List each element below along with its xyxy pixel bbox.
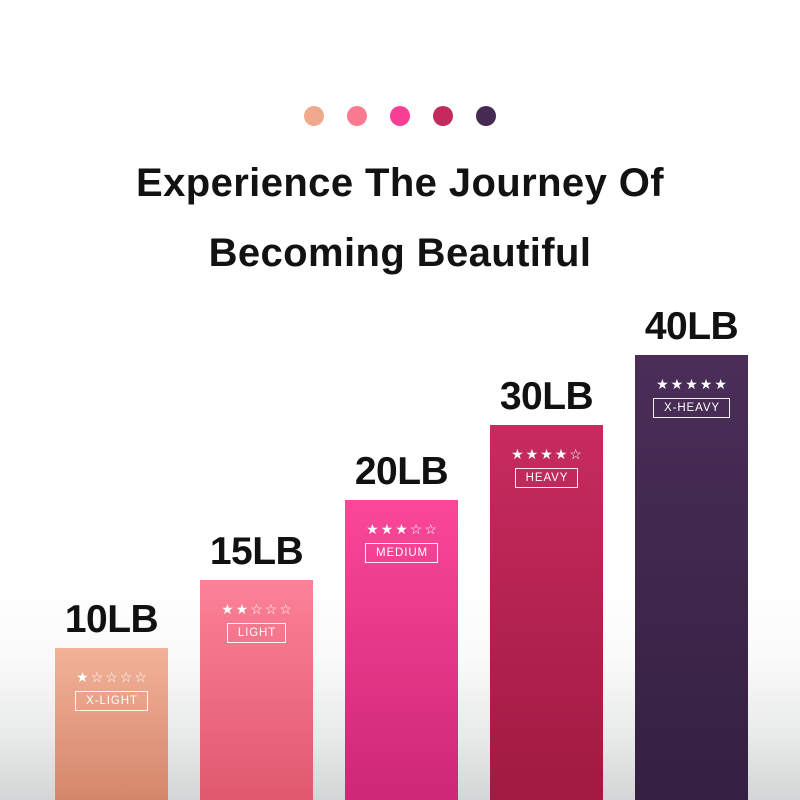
resistance-band-chart-poster: Experience The Journey Of Becoming Beaut…	[0, 0, 800, 800]
bar-badge: ★★★★☆HEAVY	[490, 447, 603, 488]
resistance-level-label: X-HEAVY	[653, 398, 730, 418]
star-filled-icon: ★	[714, 377, 727, 391]
star-filled-icon: ★	[671, 377, 684, 391]
star-rating: ★★★★★	[656, 377, 727, 391]
dot-heavy-icon	[433, 106, 453, 126]
star-empty-icon: ☆	[134, 670, 147, 684]
resistance-level-label: MEDIUM	[365, 543, 438, 563]
resistance-level-label: HEAVY	[515, 468, 579, 488]
star-filled-icon: ★	[236, 602, 249, 616]
bar-badge: ★★★★★X-HEAVY	[635, 377, 748, 418]
star-filled-icon: ★	[685, 377, 698, 391]
star-empty-icon: ☆	[120, 670, 133, 684]
bar-badge: ★★☆☆☆LIGHT	[200, 602, 313, 643]
star-filled-icon: ★	[76, 670, 89, 684]
star-filled-icon: ★	[395, 522, 408, 536]
page-title-line-1: Experience The Journey Of	[0, 148, 800, 218]
star-filled-icon: ★	[381, 522, 394, 536]
star-filled-icon: ★	[366, 522, 379, 536]
star-empty-icon: ☆	[410, 522, 423, 536]
bar-weight-label: 20LB	[355, 450, 448, 494]
bar-fill-40lb: ★★★★★X-HEAVY	[635, 355, 748, 800]
bar-badge: ★★★☆☆MEDIUM	[345, 522, 458, 563]
star-filled-icon: ★	[221, 602, 234, 616]
star-empty-icon: ☆	[250, 602, 263, 616]
bar-fill-30lb: ★★★★☆HEAVY	[490, 425, 603, 800]
resistance-level-label: X-LIGHT	[75, 691, 148, 711]
bar-15lb[interactable]: 15LB★★☆☆☆LIGHT	[200, 580, 313, 800]
star-empty-icon: ☆	[105, 670, 118, 684]
bar-20lb[interactable]: 20LB★★★☆☆MEDIUM	[345, 500, 458, 800]
star-filled-icon: ★	[555, 447, 568, 461]
star-rating: ★★☆☆☆	[221, 602, 292, 616]
bar-chart: 10LB★☆☆☆☆X-LIGHT15LB★★☆☆☆LIGHT20LB★★★☆☆M…	[0, 280, 800, 800]
star-rating: ★★★☆☆	[366, 522, 437, 536]
bar-badge: ★☆☆☆☆X-LIGHT	[55, 670, 168, 711]
star-filled-icon: ★	[511, 447, 524, 461]
dot-light-icon	[347, 106, 367, 126]
star-empty-icon: ☆	[279, 602, 292, 616]
bar-weight-label: 10LB	[65, 598, 158, 642]
star-empty-icon: ☆	[265, 602, 278, 616]
bar-10lb[interactable]: 10LB★☆☆☆☆X-LIGHT	[55, 648, 168, 800]
star-filled-icon: ★	[656, 377, 669, 391]
bar-fill-15lb: ★★☆☆☆LIGHT	[200, 580, 313, 800]
star-empty-icon: ☆	[424, 522, 437, 536]
star-rating: ★☆☆☆☆	[76, 670, 147, 684]
color-swatch-row	[0, 106, 800, 126]
star-rating: ★★★★☆	[511, 447, 582, 461]
star-filled-icon: ★	[540, 447, 553, 461]
dot-x-heavy-icon	[476, 106, 496, 126]
page-title: Experience The Journey Of Becoming Beaut…	[0, 148, 800, 288]
resistance-level-label: LIGHT	[227, 623, 286, 643]
bar-fill-20lb: ★★★☆☆MEDIUM	[345, 500, 458, 800]
page-title-line-2: Becoming Beautiful	[0, 218, 800, 288]
star-filled-icon: ★	[700, 377, 713, 391]
bar-fill-10lb: ★☆☆☆☆X-LIGHT	[55, 648, 168, 800]
dot-medium-icon	[390, 106, 410, 126]
bar-30lb[interactable]: 30LB★★★★☆HEAVY	[490, 425, 603, 800]
bar-weight-label: 15LB	[210, 530, 303, 574]
bar-weight-label: 30LB	[500, 375, 593, 419]
dot-x-light-icon	[304, 106, 324, 126]
star-empty-icon: ☆	[569, 447, 582, 461]
bar-40lb[interactable]: 40LB★★★★★X-HEAVY	[635, 355, 748, 800]
star-filled-icon: ★	[526, 447, 539, 461]
star-empty-icon: ☆	[91, 670, 104, 684]
bar-weight-label: 40LB	[645, 305, 738, 349]
